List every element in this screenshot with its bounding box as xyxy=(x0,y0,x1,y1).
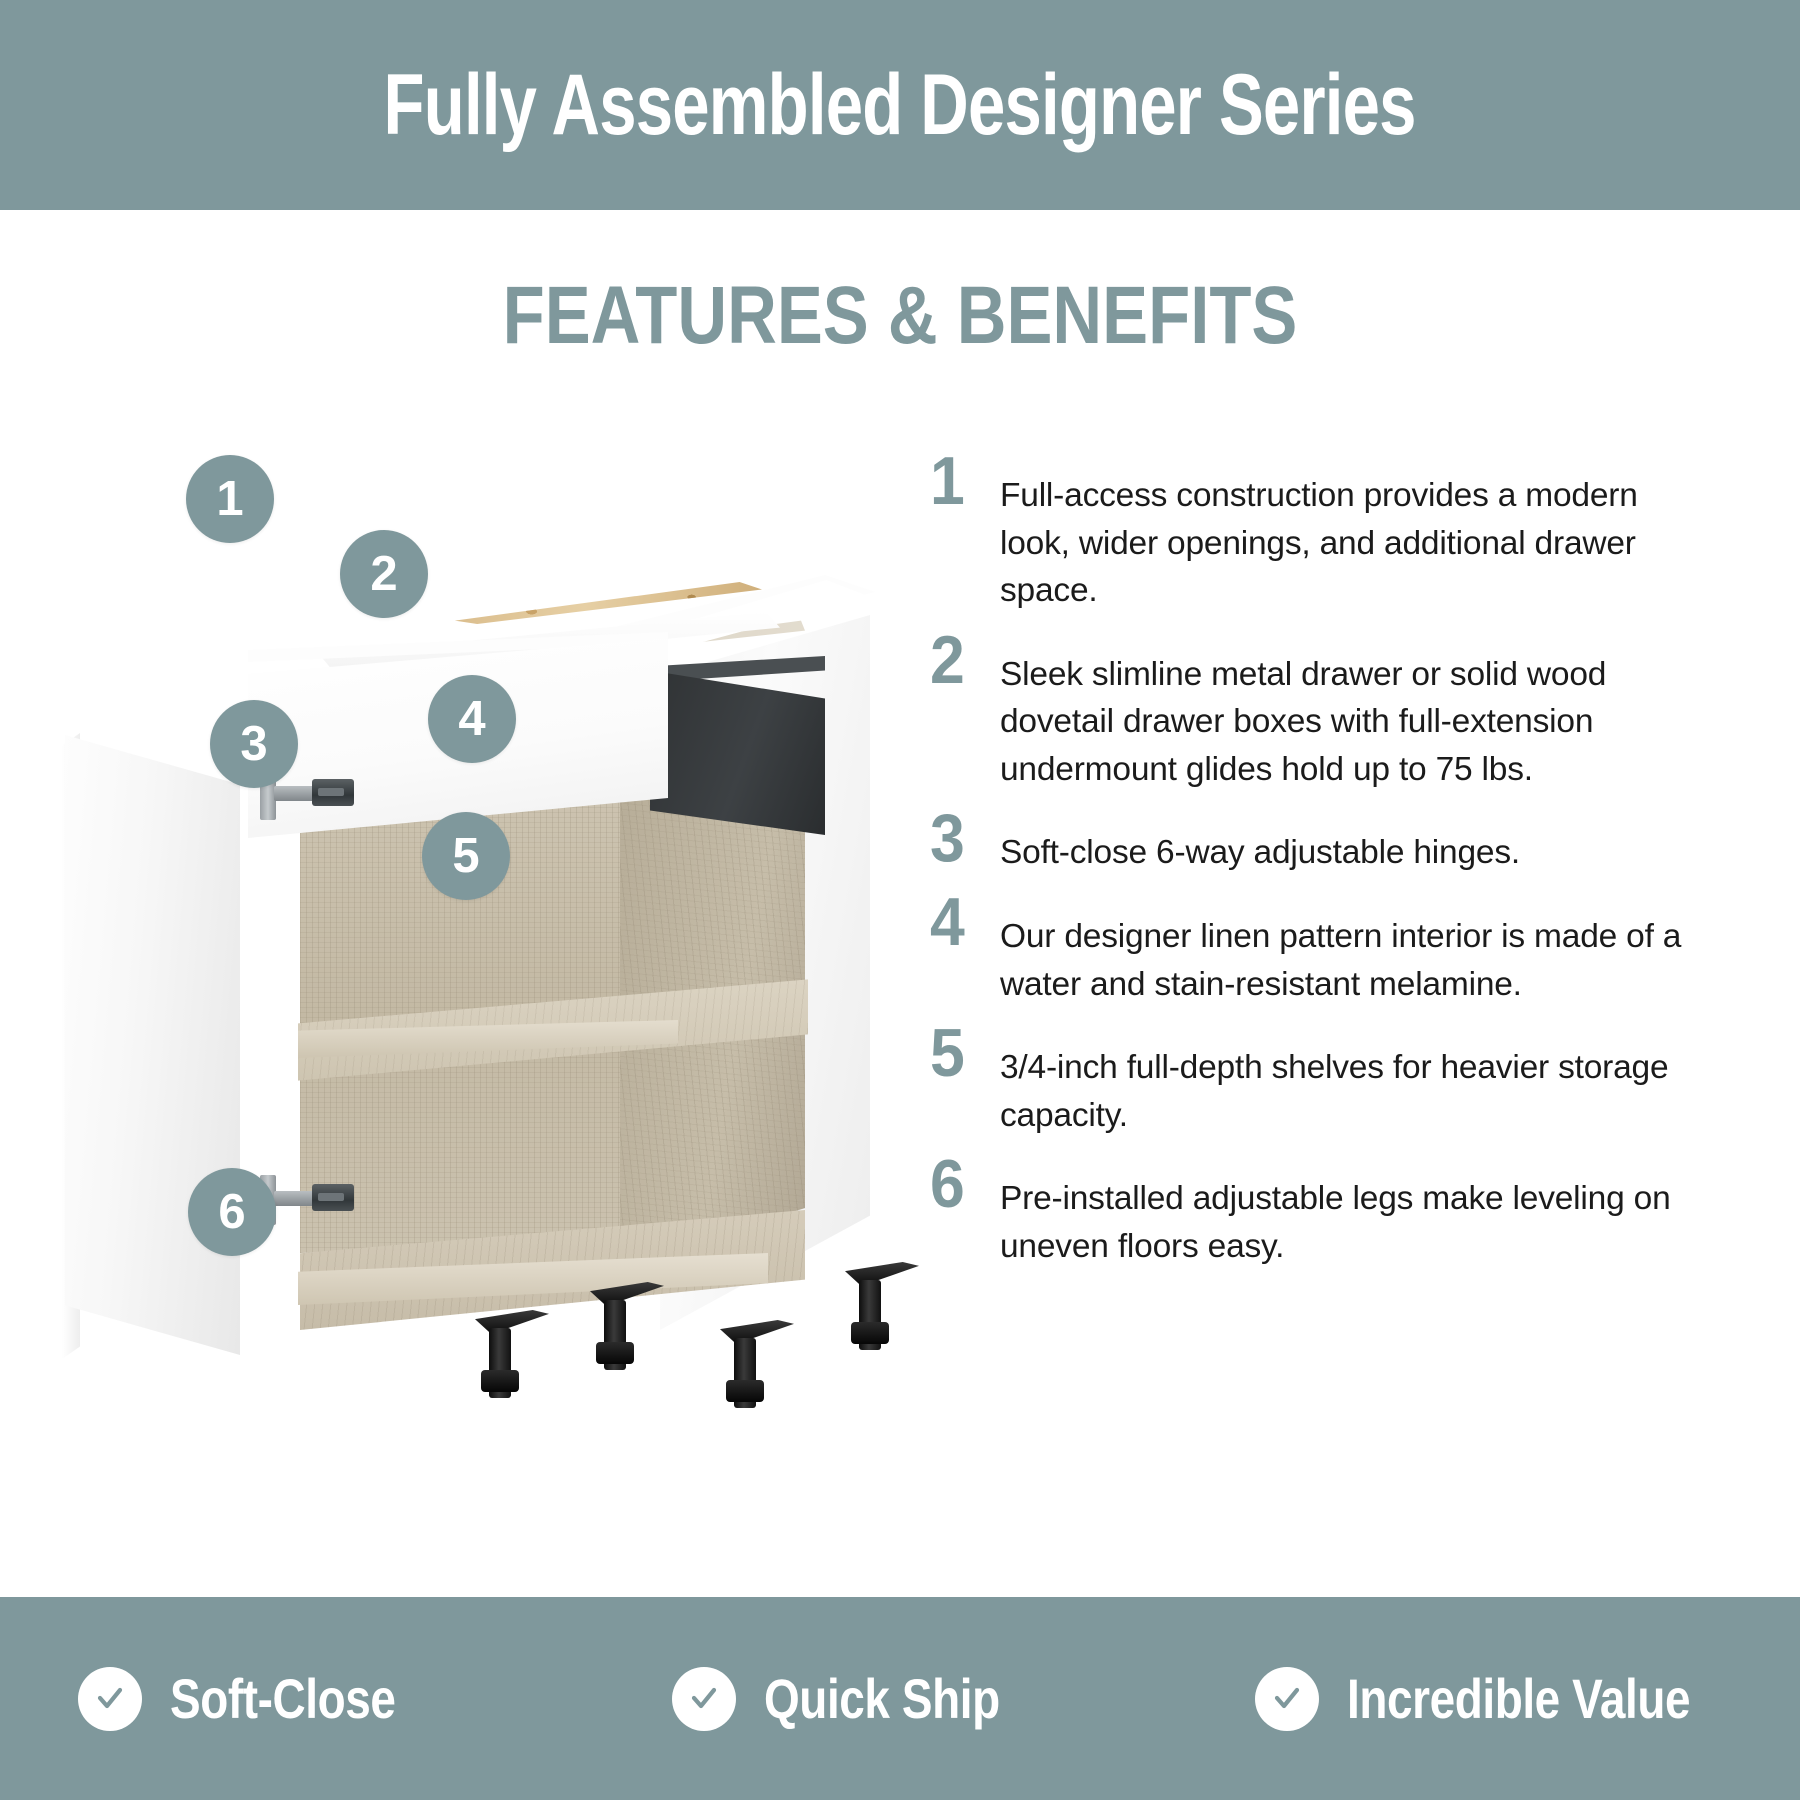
callout-badge-3: 3 xyxy=(210,700,298,788)
cabinet-carcass xyxy=(220,520,870,1360)
features-list: 1 Full-access construction provides a mo… xyxy=(930,450,1690,1284)
header-bar: Fully Assembled Designer Series xyxy=(0,0,1800,210)
feature-item: 4 Our designer linen pattern interior is… xyxy=(930,891,1690,1008)
check-circle-icon xyxy=(672,1667,736,1731)
feature-item: 2 Sleek slimline metal drawer or solid w… xyxy=(930,629,1690,794)
footer-benefit-label: Soft-Close xyxy=(170,1671,396,1727)
feature-number: 2 xyxy=(930,629,994,692)
footer-benefit-label: Incredible Value xyxy=(1347,1671,1690,1727)
cabinet-door xyxy=(65,735,240,1355)
check-circle-icon xyxy=(1255,1667,1319,1731)
feature-description: Pre-installed adjustable legs make level… xyxy=(1000,1153,1690,1270)
feature-number: 4 xyxy=(930,891,994,954)
footer-benefit-soft-close: Soft-Close xyxy=(78,1667,445,1731)
main-content: 123456 1 Full-access construction provid… xyxy=(0,400,1800,1580)
feature-item: 1 Full-access construction provides a mo… xyxy=(930,450,1690,615)
feature-description: Soft-close 6-way adjustable hinges. xyxy=(1000,807,1690,877)
product-illustration xyxy=(40,440,820,1460)
callout-badge-5: 5 xyxy=(422,812,510,900)
feature-number: 6 xyxy=(930,1153,994,1216)
footer-benefit-incredible-value: Incredible Value xyxy=(1255,1667,1765,1731)
feature-number: 3 xyxy=(930,807,994,870)
callout-badge-2: 2 xyxy=(340,530,428,618)
feature-item: 5 3/4-inch full-depth shelves for heavie… xyxy=(930,1022,1690,1139)
callout-badge-6: 6 xyxy=(188,1168,276,1256)
page-title: Fully Assembled Designer Series xyxy=(384,62,1416,148)
feature-item: 6 Pre-installed adjustable legs make lev… xyxy=(930,1153,1690,1270)
feature-number: 5 xyxy=(930,1022,994,1085)
footer-benefit-quick-ship: Quick Ship xyxy=(672,1667,1052,1731)
footer-bar: Soft-Close Quick Ship Incredible Value xyxy=(0,1597,1800,1800)
callout-badge-4: 4 xyxy=(428,675,516,763)
feature-description: Full-access construction provides a mode… xyxy=(1000,450,1690,615)
footer-benefit-label: Quick Ship xyxy=(764,1671,1000,1727)
feature-description: 3/4-inch full-depth shelves for heavier … xyxy=(1000,1022,1690,1139)
feature-description: Sleek slimline metal drawer or solid woo… xyxy=(1000,629,1690,794)
feature-description: Our designer linen pattern interior is m… xyxy=(1000,891,1690,1008)
check-circle-icon xyxy=(78,1667,142,1731)
callout-badge-1: 1 xyxy=(186,455,274,543)
feature-number: 1 xyxy=(930,450,994,513)
feature-item: 3 Soft-close 6-way adjustable hinges. xyxy=(930,807,1690,877)
section-heading: FEATURES & BENEFITS xyxy=(144,275,1656,357)
